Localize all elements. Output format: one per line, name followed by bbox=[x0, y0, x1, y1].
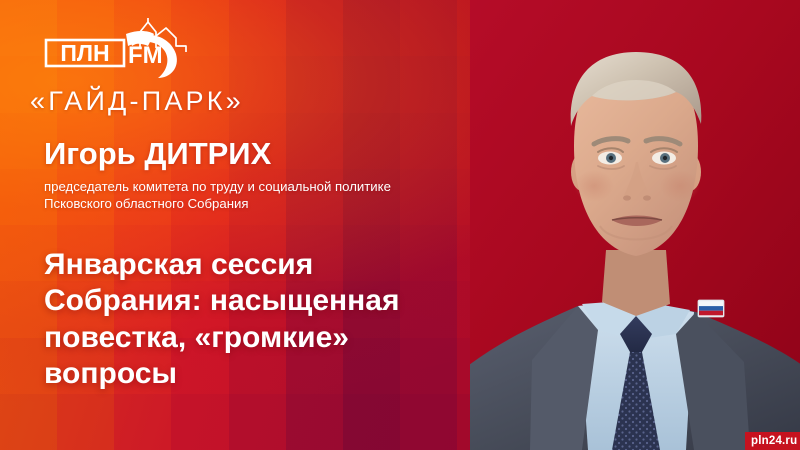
pln-fm-logo: ПЛН FM bbox=[44, 18, 214, 80]
promo-card: ПЛН FM «ГАЙД-ПАРК» Игорь ДИТРИХ председа… bbox=[0, 0, 800, 450]
logo-pln-text: ПЛН bbox=[60, 40, 109, 66]
headline-text: Январская сессия Собрания: насыщенная по… bbox=[44, 247, 474, 392]
guest-portrait bbox=[470, 0, 800, 450]
guest-info: Игорь ДИТРИХ председатель комитета по тр… bbox=[44, 138, 474, 212]
guest-name: Игорь ДИТРИХ bbox=[44, 138, 474, 171]
guest-role: председатель комитета по труду и социаль… bbox=[44, 178, 394, 212]
show-name: «ГАЙД-ПАРК» bbox=[30, 86, 244, 117]
logo-fm-text: FM bbox=[128, 42, 163, 69]
site-watermark: pln24.ru bbox=[745, 432, 800, 450]
